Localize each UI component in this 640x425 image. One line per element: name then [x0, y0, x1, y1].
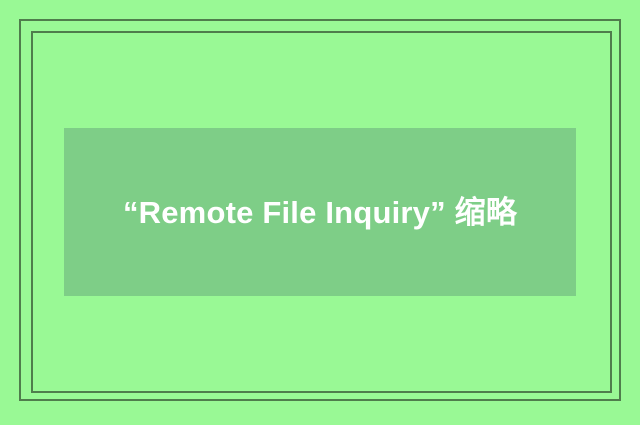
thumbnail-card: “Remote File Inquiry” 缩略: [0, 0, 640, 425]
panel-heading: “Remote File Inquiry” 缩略: [64, 190, 576, 235]
content-panel: “Remote File Inquiry” 缩略: [64, 128, 576, 296]
